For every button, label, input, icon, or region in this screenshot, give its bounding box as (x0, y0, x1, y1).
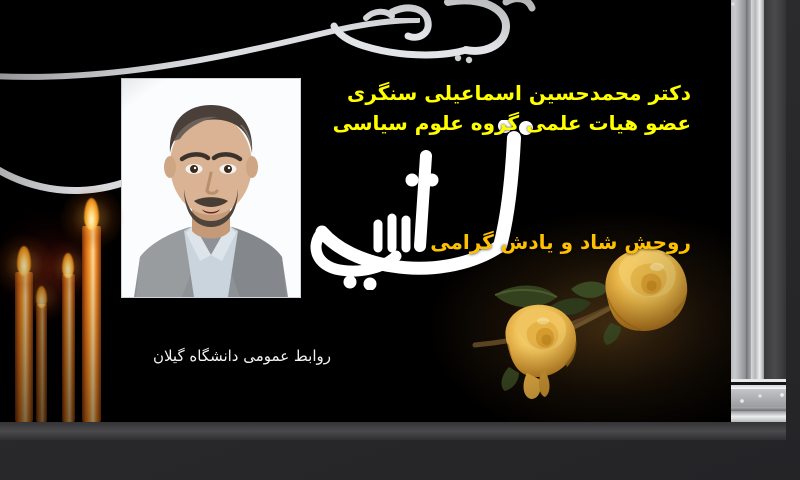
tasliat-dot (406, 174, 419, 187)
candle-1-flame (17, 246, 31, 276)
frame-rail-shadow-right (746, 0, 751, 440)
condolence-banner: دکتر محمدحسین اسماعیلی سنگری عضو هیات عل… (0, 0, 800, 480)
candles-group (0, 192, 130, 422)
tasliat-dot (426, 174, 439, 187)
deceased-info-block: دکتر محمدحسین اسماعیلی سنگری عضو هیات عل… (261, 78, 691, 138)
hu-al-baqi-calligraphy-icon (330, 0, 580, 68)
frame-rail-outer-bottom (0, 422, 786, 440)
deceased-name: دکتر محمدحسین اسماعیلی سنگری (261, 78, 691, 108)
prayer-line: روحش شاد و یادش گرامی (261, 228, 691, 256)
candle-2-flame (84, 198, 99, 230)
tasliat-dot (344, 276, 357, 289)
organization-line: روابط عمومی دانشگاه گیلان (41, 345, 331, 367)
tasliat-dot (364, 278, 377, 291)
calligraphy-dot (466, 57, 472, 63)
candle-2 (82, 226, 101, 422)
roses-decoration (471, 237, 731, 422)
frame-rail-bright-right (751, 0, 764, 440)
deceased-role: عضو هیات علمی گروه علوم سیاسی (261, 108, 691, 138)
banner-canvas: دکتر محمدحسین اسماعیلی سنگری عضو هیات عل… (0, 0, 731, 422)
frame-rail-outer-right (764, 0, 786, 440)
candle-3-flame (62, 253, 74, 278)
calligraphy-dot (455, 55, 461, 61)
